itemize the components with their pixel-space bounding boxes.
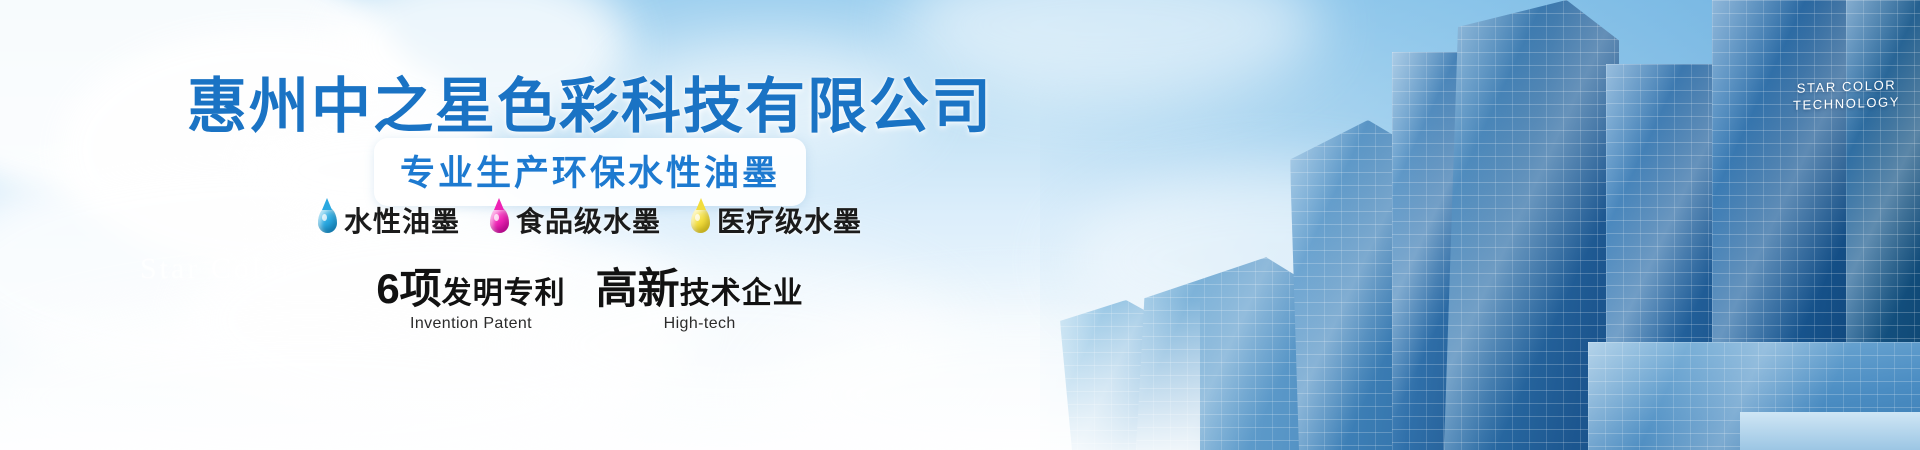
badge-main-text: 高新技术企业: [596, 268, 804, 310]
feature-label: 水性油墨: [344, 200, 460, 240]
building-shape: [1740, 412, 1920, 450]
badge-item: 高新技术企业 High-tech: [596, 268, 804, 333]
water-drop-icon: [318, 207, 337, 233]
water-drop-icon: [691, 207, 710, 233]
badge-main-big: 6项: [376, 265, 441, 312]
badge-english: Invention Patent: [376, 315, 565, 333]
subtitle-pill: 专业生产环保水性油墨: [374, 138, 806, 206]
badge-main-big: 高新: [596, 265, 680, 312]
badge-main-text: 6项发明专利: [376, 268, 565, 310]
feature-item: 水性油墨: [318, 200, 460, 240]
banner-content: 惠州中之星色彩科技有限公司 专业生产环保水性油墨 水性油墨 食品级水墨 医疗级水…: [0, 0, 1180, 450]
company-title: 惠州中之星色彩科技有限公司: [0, 58, 1180, 145]
building-sign: STAR COLOR TECHNOLOGY: [1793, 76, 1900, 114]
badge-main-small: 发明专利: [442, 277, 566, 310]
feature-item: 食品级水墨: [490, 200, 661, 240]
feature-item: 医疗级水墨: [691, 200, 862, 240]
water-drop-icon: [490, 207, 509, 233]
feature-label: 食品级水墨: [516, 200, 661, 240]
badge-main-small: 技术企业: [680, 277, 804, 310]
badge-english: High-tech: [596, 315, 804, 333]
subtitle-text: 专业生产环保水性油墨: [400, 154, 780, 193]
badge-item: 6项发明专利 Invention Patent: [376, 268, 565, 333]
feature-list: 水性油墨 食品级水墨 医疗级水墨: [0, 200, 1180, 240]
feature-label: 医疗级水墨: [717, 200, 862, 240]
badge-list: 6项发明专利 Invention Patent 高新技术企业 High-tech: [0, 268, 1180, 333]
subtitle-row: 专业生产环保水性油墨: [0, 138, 1180, 206]
promo-banner: Star Color STAR COLOR TECHNOLOGY 惠州中之星色彩…: [0, 0, 1920, 450]
